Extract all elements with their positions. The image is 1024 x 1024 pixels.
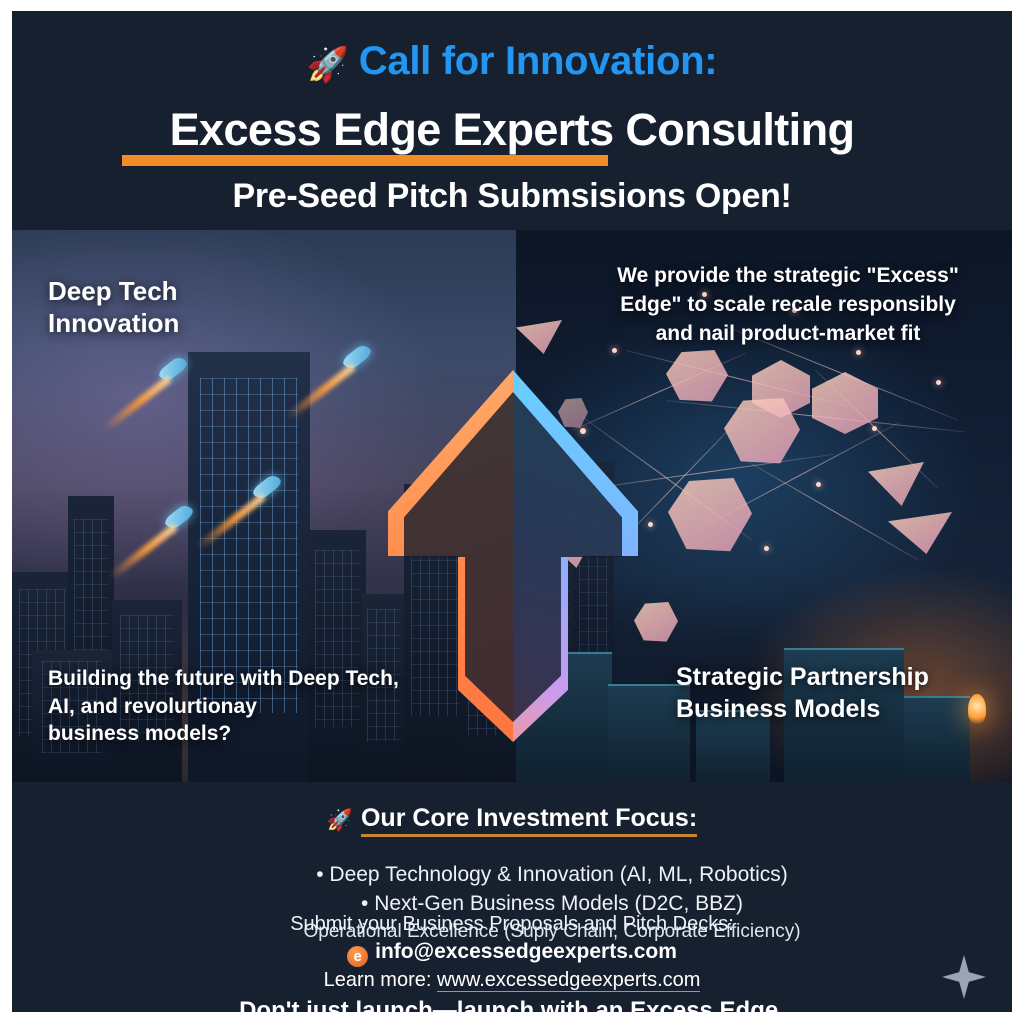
footer-band: 🚀Our Core Investment Focus: Deep Technol… — [12, 782, 1012, 1012]
left-panel-caption: Building the future with Deep Tech, AI, … — [48, 665, 399, 748]
page-title: Excess Edge Experts Consulting — [12, 104, 1012, 156]
header-band: 🚀Call for Innovation: Excess Edge Expert… — [12, 11, 1012, 230]
page-subtitle: Pre-Seed Pitch Submsisions Open! — [12, 177, 1012, 216]
poster-canvas: 🚀Call for Innovation: Excess Edge Expert… — [12, 11, 1012, 1012]
email-address[interactable]: info@excessedgeexperts.com — [375, 940, 677, 963]
lightbulb-icon — [968, 694, 986, 724]
submit-instruction: Submit your Business Proposals and Pitch… — [12, 913, 1012, 936]
right-panel-heading: Strategic Partnership Business Models — [676, 662, 929, 725]
list-item: Deep Technology & Innovation (AI, ML, Ro… — [52, 861, 1012, 890]
kicker-text: Call for Innovation: — [359, 39, 717, 83]
title-rest: Consulting — [614, 104, 855, 155]
kicker-line: 🚀Call for Innovation: — [12, 39, 1012, 85]
focus-heading-text: Our Core Investment Focus: — [361, 804, 697, 837]
focus-heading: 🚀Our Core Investment Focus: — [12, 804, 1012, 833]
learn-more-line: Learn more: www.excessedgeexperts.com — [12, 969, 1012, 992]
hero-image-band: Deep Tech Innovation Building the future… — [12, 230, 1012, 782]
tagline: Don't just launch—launch with an Excess … — [12, 997, 1012, 1012]
website-link[interactable]: www.excessedgeexperts.com — [437, 969, 700, 992]
title-underline-bar — [122, 155, 608, 166]
email-icon: e — [347, 946, 368, 967]
email-line: einfo@excessedgeexperts.com — [12, 940, 1012, 967]
learn-more-prefix: Learn more: — [324, 969, 437, 991]
rocket-icon: 🚀 — [307, 45, 349, 85]
right-panel-copy: We provide the strategic "Excess" Edge" … — [604, 262, 972, 349]
rocket-icon: 🚀 — [327, 809, 353, 833]
left-panel-heading: Deep Tech Innovation — [48, 275, 179, 339]
title-highlight: Excess Edge Experts — [170, 104, 614, 155]
